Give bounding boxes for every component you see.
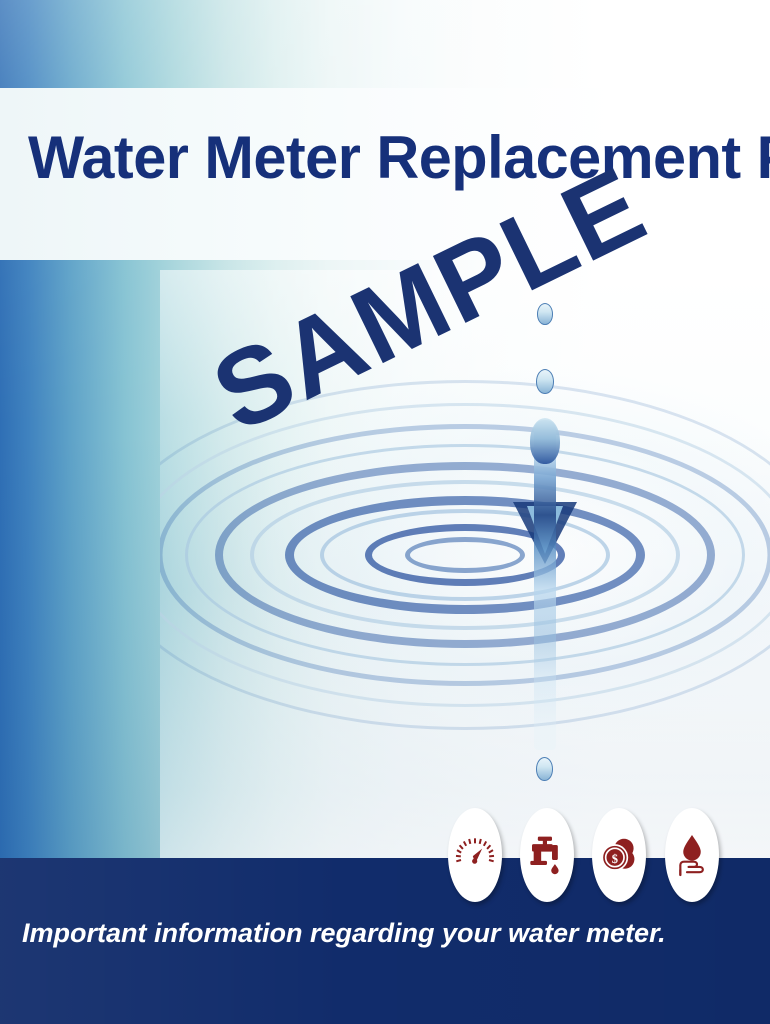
hand-holding-water-drop-icon [672, 833, 712, 877]
droplet-middle [536, 369, 554, 394]
badge-hand-holding-water-drop [665, 808, 719, 902]
badge-water-meter-gauge [448, 808, 502, 902]
flyer-cover-page: Water Meter Replacement Project SAMPLE [0, 0, 770, 1024]
icon-badge-row: $ [448, 808, 758, 912]
badge-dollar-coins: $ [592, 808, 646, 902]
splash-head-droplet [530, 418, 560, 464]
droplet-lower [536, 757, 553, 781]
svg-text:$: $ [612, 852, 618, 866]
ripple-ring [405, 537, 525, 573]
tagline-text: Important information regarding your wat… [22, 918, 666, 949]
faucet-drip-icon [527, 834, 567, 876]
dollar-coins-icon: $ [599, 835, 639, 875]
water-meter-gauge-icon [455, 835, 495, 875]
splash-column [534, 420, 556, 750]
page-title: Water Meter Replacement Project [28, 128, 751, 188]
badge-faucet-drip [520, 808, 574, 902]
